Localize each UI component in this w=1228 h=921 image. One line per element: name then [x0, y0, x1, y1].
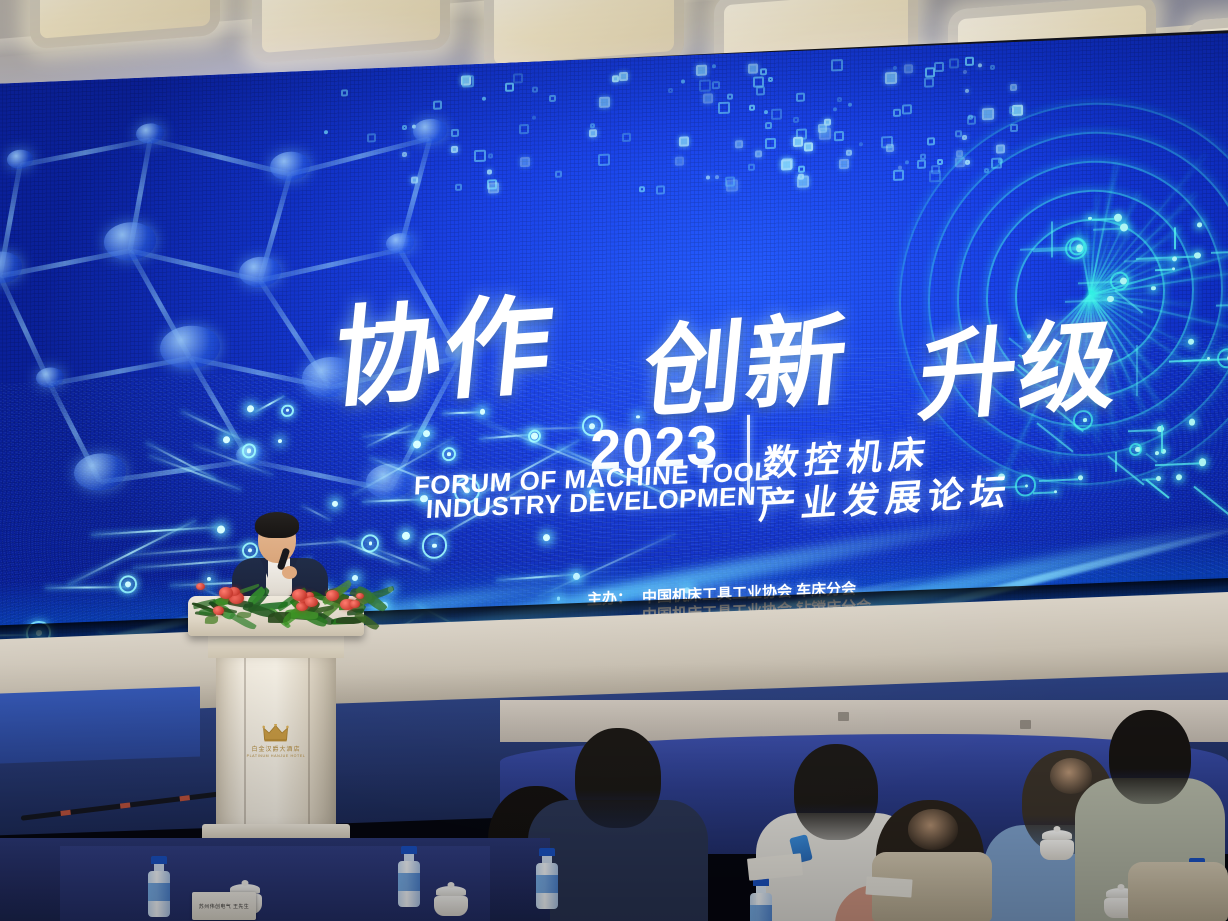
audience-people-layer	[0, 0, 1228, 921]
chair	[1128, 862, 1228, 921]
audience-member-head	[1109, 710, 1191, 804]
teacup	[434, 886, 468, 916]
teacup	[1040, 830, 1074, 860]
conference-photo-scene: 协作 创新 升级 2023 FORUM OF MACHINE TOOL INDU…	[0, 0, 1228, 921]
front-table-cloth-upper	[60, 846, 490, 921]
water-bottle	[398, 846, 420, 907]
water-bottle	[750, 878, 772, 921]
paper-sheet	[865, 876, 912, 897]
audience-member-scalp	[908, 809, 958, 849]
name-card: 苏州伟创电气 王先生	[192, 892, 256, 920]
audience-member-head	[575, 728, 661, 828]
water-bottle	[148, 856, 170, 917]
name-card-text: 苏州伟创电气 王先生	[199, 903, 249, 910]
water-bottle	[536, 848, 558, 909]
